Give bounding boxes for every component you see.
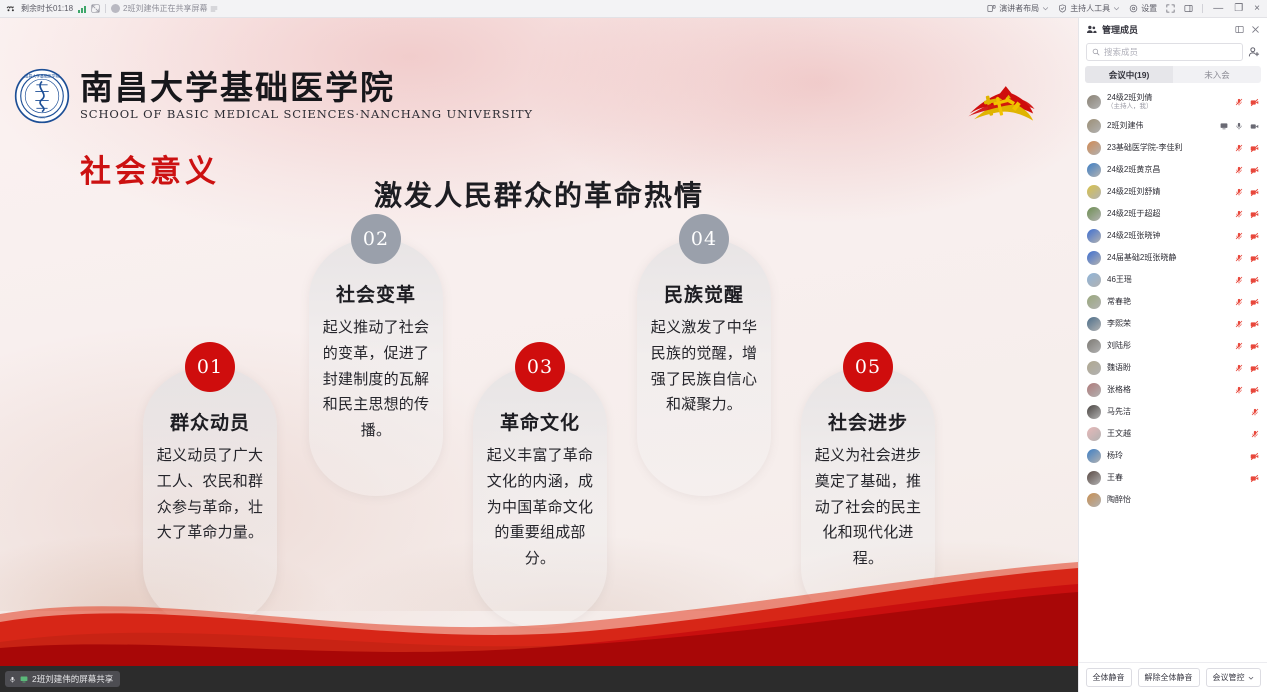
share-status-strip: 2班刘建伟的屏幕共享	[0, 666, 1078, 692]
participant-status-icons	[1250, 474, 1259, 483]
avatar	[1087, 317, 1101, 331]
top-bar: 剩余时长01:18 2班刘建伟正在共享屏幕 演讲者布局	[0, 0, 1267, 18]
maximize-button[interactable]: ❐	[1233, 3, 1244, 14]
avatar	[1087, 251, 1101, 265]
participant-name-wrap: 杨玲	[1107, 451, 1244, 461]
divider	[1202, 4, 1203, 13]
participant-row[interactable]: 24级2班刘舒婧	[1079, 181, 1267, 203]
camera-muted-icon[interactable]	[1250, 254, 1259, 263]
settings-label: 设置	[1141, 3, 1157, 14]
microphone-icon	[9, 676, 16, 683]
close-icon[interactable]	[1251, 25, 1260, 34]
participant-name-wrap: 24届基础2班张晓静	[1107, 253, 1229, 263]
camera-muted-icon[interactable]	[1250, 98, 1259, 107]
microphone-muted-icon[interactable]	[1235, 98, 1243, 106]
participant-name-wrap: 魏语盼	[1107, 363, 1229, 373]
microphone-muted-icon[interactable]	[1251, 408, 1259, 416]
participant-status-icons	[1251, 430, 1259, 438]
card-title: 民族觉醒	[645, 280, 763, 307]
participant-name-wrap: 陶醉怡	[1107, 495, 1253, 505]
microphone-muted-icon[interactable]	[1235, 210, 1243, 218]
participant-name: 马先洁	[1107, 407, 1245, 417]
participant-name: 杨玲	[1107, 451, 1244, 461]
card-title: 社会进步	[809, 408, 927, 435]
university-name-en: SCHOOL OF BASIC MEDICAL SCIENCES·NANCHAN…	[80, 107, 533, 121]
camera-muted-icon[interactable]	[1250, 452, 1259, 461]
participant-status-icons	[1235, 320, 1259, 329]
participant-status-icons	[1220, 122, 1259, 131]
avatar	[1087, 361, 1101, 375]
participant-row[interactable]: 张格格	[1079, 379, 1267, 401]
participant-name: 常春艳	[1107, 297, 1229, 307]
participant-name-wrap: 常春艳	[1107, 297, 1229, 307]
card-description: 起义推动了社会的变革，促进了封建制度的瓦解和民主思想的传播。	[317, 315, 435, 444]
participant-row[interactable]: 2班刘建伟	[1079, 115, 1267, 137]
fullscreen-icon[interactable]	[1166, 4, 1175, 13]
slide-main-title: 激发人民群众的革命热情	[0, 174, 1078, 214]
panel-footer: 全体静音 解除全体静音 会议管控	[1079, 662, 1267, 692]
avatar	[1087, 295, 1101, 309]
settings-button[interactable]: 设置	[1129, 3, 1157, 14]
nanchang-university-emblem: 南昌大学基础医学院 NCU	[14, 68, 70, 124]
card-description: 起义动员了广大工人、农民和群众参与革命，壮大了革命力量。	[151, 443, 269, 546]
participant-status-icons	[1235, 166, 1259, 175]
card-number: 04	[679, 214, 729, 264]
camera-muted-icon[interactable]	[1250, 188, 1259, 197]
avatar	[1087, 141, 1101, 155]
microphone-muted-icon[interactable]	[1235, 276, 1243, 284]
avatar	[1087, 185, 1101, 199]
participant-status-icons	[1235, 364, 1259, 373]
participant-name-wrap: 24级2班于超超	[1107, 209, 1229, 219]
signal-bars-icon[interactable]	[78, 5, 86, 13]
participant-name: 李熙荣	[1107, 319, 1229, 329]
popout-window-icon[interactable]	[91, 4, 100, 13]
search-box[interactable]	[1086, 43, 1243, 61]
participant-name: 46王瑶	[1107, 275, 1229, 285]
camera-on-icon[interactable]	[1250, 122, 1259, 131]
university-name-cn: 南昌大学基础医学院	[80, 71, 533, 106]
people-group-icon	[1086, 24, 1097, 35]
presentation-slide: 南昌大学基础医学院 NCU 南昌大学基础医学院 SCHOOL OF BASIC …	[0, 18, 1078, 666]
participant-name: 魏语盼	[1107, 363, 1229, 373]
participant-name: 24级2班于超超	[1107, 209, 1229, 219]
camera-muted-icon[interactable]	[1250, 298, 1259, 307]
participant-name-wrap: 刘陆彤	[1107, 341, 1229, 351]
svg-text:NCU: NCU	[39, 115, 47, 119]
card-description: 起义激发了中华民族的觉醒，增强了民族自信心和凝聚力。	[645, 315, 763, 418]
svg-text:南昌大学基础医学院: 南昌大学基础医学院	[24, 74, 59, 79]
top-bar-right: 演讲者布局 主持人工具 设置	[987, 3, 1267, 14]
search-row	[1079, 40, 1267, 66]
avatar	[1087, 273, 1101, 287]
avatar	[1087, 119, 1101, 133]
search-icon	[1092, 48, 1100, 56]
participant-status-icons	[1235, 298, 1259, 307]
participant-name: 24级2班刘舒婧	[1107, 187, 1229, 197]
red-ribbon-decoration	[0, 556, 1078, 666]
sharing-notice-label: 2班刘建伟正在共享屏幕	[123, 3, 207, 14]
participant-status-icons	[1235, 98, 1259, 107]
avatar	[1087, 427, 1101, 441]
list-menu-icon[interactable]	[210, 5, 218, 13]
card-number: 02	[351, 214, 401, 264]
camera-muted-icon[interactable]	[1250, 166, 1259, 175]
popout-panel-icon[interactable]	[1235, 25, 1244, 34]
avatar	[1087, 163, 1101, 177]
participant-status-icons	[1235, 232, 1259, 241]
participant-status-icons	[1235, 386, 1259, 395]
microphone-muted-icon[interactable]	[1235, 342, 1243, 350]
participant-row[interactable]: 24级2班刘倩（主持人，我）	[1079, 89, 1267, 115]
participant-name-wrap: 李熙荣	[1107, 319, 1229, 329]
microphone-muted-icon[interactable]	[1235, 320, 1243, 328]
meeting-control-button[interactable]: 会议管控	[1206, 668, 1261, 687]
camera-muted-icon[interactable]	[1250, 276, 1259, 285]
avatar	[1087, 493, 1101, 507]
avatar	[1087, 383, 1101, 397]
speaker-layout-button[interactable]: 演讲者布局	[987, 3, 1049, 14]
participant-row[interactable]: 24级2班黄京昌	[1079, 159, 1267, 181]
participant-status-icons	[1235, 144, 1259, 153]
speaker-layout-label: 演讲者布局	[999, 3, 1039, 14]
participant-name: 24级2班张晓钟	[1107, 231, 1229, 241]
camera-muted-icon[interactable]	[1250, 320, 1259, 329]
card-number: 03	[515, 342, 565, 392]
layout-icon	[987, 4, 996, 13]
sharing-notice: 2班刘建伟正在共享屏幕	[111, 3, 218, 14]
card-description: 起义为社会进步奠定了基础，推动了社会的民主化和现代化进程。	[809, 443, 927, 572]
participant-status-icons	[1235, 254, 1259, 263]
avatar	[1087, 471, 1101, 485]
add-user-icon[interactable]	[1248, 46, 1260, 58]
clock-timer-icon	[6, 4, 16, 14]
tab-in-meeting[interactable]: 会议中(19)	[1085, 66, 1173, 83]
share-status-pill[interactable]: 2班刘建伟的屏幕共享	[5, 671, 120, 687]
participant-row[interactable]: 王春	[1079, 467, 1267, 489]
camera-muted-icon[interactable]	[1250, 386, 1259, 395]
panel-title: 管理成员	[1102, 23, 1138, 36]
microphone-muted-icon[interactable]	[1235, 232, 1243, 240]
sidebar-toggle-icon[interactable]	[1184, 4, 1193, 13]
host-tools-label: 主持人工具	[1070, 3, 1110, 14]
avatar	[1087, 339, 1101, 353]
participant-row[interactable]: 刘陆彤	[1079, 335, 1267, 357]
participant-row[interactable]: 陶醉怡	[1079, 489, 1267, 511]
participant-name: 张格格	[1107, 385, 1229, 395]
microphone-muted-icon[interactable]	[1235, 144, 1243, 152]
card-title: 群众动员	[151, 408, 269, 435]
search-input[interactable]	[1104, 47, 1237, 57]
share-status-label: 2班刘建伟的屏幕共享	[32, 673, 113, 685]
participant-row[interactable]: 魏语盼	[1079, 357, 1267, 379]
participant-name-wrap: 24级2班刘舒婧	[1107, 187, 1229, 197]
remaining-time-label: 剩余时长01:18	[21, 3, 73, 14]
camera-muted-icon[interactable]	[1250, 474, 1259, 483]
card-number: 01	[185, 342, 235, 392]
avatar	[1087, 405, 1101, 419]
host-tools-button[interactable]: 主持人工具	[1058, 3, 1120, 14]
participant-row[interactable]: 24级2班于超超	[1079, 203, 1267, 225]
participant-status-icons	[1235, 188, 1259, 197]
participant-status-icons	[1235, 210, 1259, 219]
participant-status-icons	[1235, 276, 1259, 285]
card-description: 起义丰富了革命文化的内涵，成为中国革命文化的重要组成部分。	[481, 443, 599, 572]
tab-not-joined[interactable]: 未入会	[1173, 66, 1261, 83]
avatar	[1087, 229, 1101, 243]
avatar	[1087, 95, 1101, 109]
participant-name: 2班刘建伟	[1107, 121, 1214, 131]
participant-name-wrap: 张格格	[1107, 385, 1229, 395]
participant-row[interactable]: 常春艳	[1079, 291, 1267, 313]
microphone-muted-icon[interactable]	[1251, 430, 1259, 438]
participant-name: 24级2班刘倩	[1107, 93, 1229, 103]
camera-muted-icon[interactable]	[1250, 144, 1259, 153]
microphone-muted-icon[interactable]	[1235, 254, 1243, 262]
screen-share-icon[interactable]	[1220, 122, 1228, 130]
participant-name-wrap: 2班刘建伟	[1107, 121, 1214, 131]
shield-icon	[1058, 4, 1067, 13]
participant-row[interactable]: 24级2班张晓钟	[1079, 225, 1267, 247]
shared-screen-stage: 南昌大学基础医学院 NCU 南昌大学基础医学院 SCHOOL OF BASIC …	[0, 18, 1078, 692]
card-04: 04 民族觉醒 起义激发了中华民族的觉醒，增强了民族自信心和凝聚力。	[637, 238, 771, 496]
participant-name-wrap: 24级2班刘倩（主持人，我）	[1107, 93, 1229, 110]
participant-row[interactable]: 24届基础2班张晓静	[1079, 247, 1267, 269]
chinese-communist-party-emblem	[964, 76, 1036, 138]
microphone-muted-icon[interactable]	[1235, 364, 1243, 372]
panel-tabs: 会议中(19) 未入会	[1079, 66, 1267, 87]
meeting-control-label: 会议管控	[1213, 672, 1245, 683]
card-title: 革命文化	[481, 408, 599, 435]
microphone-muted-icon[interactable]	[1235, 188, 1243, 196]
camera-muted-icon[interactable]	[1250, 364, 1259, 373]
participant-name: 24级2班黄京昌	[1107, 165, 1229, 175]
participant-name: 王春	[1107, 473, 1244, 483]
card-number: 05	[843, 342, 893, 392]
participant-name: 王文越	[1107, 429, 1245, 439]
participant-name-wrap: 46王瑶	[1107, 275, 1229, 285]
microphone-on-icon[interactable]	[1235, 122, 1243, 130]
camera-muted-icon[interactable]	[1250, 342, 1259, 351]
participant-name-wrap: 王春	[1107, 473, 1244, 483]
microphone-muted-icon[interactable]	[1235, 298, 1243, 306]
microphone-muted-icon[interactable]	[1235, 166, 1243, 174]
unmute-all-button[interactable]: 解除全体静音	[1138, 668, 1200, 687]
participant-status-icons	[1251, 408, 1259, 416]
participant-list[interactable]: 24级2班刘倩（主持人，我）2班刘建伟23基础医学院-李佳利24级2班黄京昌24…	[1079, 87, 1267, 662]
participant-name-wrap: 王文越	[1107, 429, 1245, 439]
card-title: 社会变革	[317, 280, 435, 307]
participant-name: 刘陆彤	[1107, 341, 1229, 351]
card-02: 02 社会变革 起义推动了社会的变革，促进了封建制度的瓦解和民主思想的传播。	[309, 238, 443, 496]
avatar	[1087, 449, 1101, 463]
participant-name: 陶醉怡	[1107, 495, 1253, 505]
avatar	[111, 4, 120, 13]
participant-status-icons	[1250, 452, 1259, 461]
camera-muted-icon[interactable]	[1250, 210, 1259, 219]
microphone-muted-icon[interactable]	[1235, 386, 1243, 394]
participant-name: 24届基础2班张晓静	[1107, 253, 1229, 263]
participant-row[interactable]: 46王瑶	[1079, 269, 1267, 291]
panel-header-actions	[1235, 25, 1260, 34]
avatar	[1087, 207, 1101, 221]
slide-header: 南昌大学基础医学院 NCU 南昌大学基础医学院 SCHOOL OF BASIC …	[14, 68, 533, 124]
mute-all-button[interactable]: 全体静音	[1086, 668, 1132, 687]
participant-role: （主持人，我）	[1107, 103, 1229, 111]
monitor-share-icon	[20, 675, 28, 683]
participant-name-wrap: 24级2班黄京昌	[1107, 165, 1229, 175]
participants-panel: 管理成员 会议中(19) 未入会	[1078, 18, 1267, 692]
gear-icon	[1129, 4, 1138, 13]
panel-header: 管理成员	[1079, 18, 1267, 40]
close-button[interactable]: ×	[1253, 3, 1261, 14]
participant-row[interactable]: 23基础医学院-李佳利	[1079, 137, 1267, 159]
university-names: 南昌大学基础医学院 SCHOOL OF BASIC MEDICAL SCIENC…	[80, 71, 533, 122]
divider	[105, 4, 106, 13]
chevron-down-icon	[1113, 5, 1120, 12]
participant-name-wrap: 马先洁	[1107, 407, 1245, 417]
participant-row[interactable]: 王文越	[1079, 423, 1267, 445]
top-bar-left: 剩余时长01:18 2班刘建伟正在共享屏幕	[0, 3, 218, 14]
participant-name-wrap: 23基础医学院-李佳利	[1107, 143, 1229, 153]
minimize-button[interactable]: —	[1212, 3, 1224, 14]
camera-muted-icon[interactable]	[1250, 232, 1259, 241]
participant-name-wrap: 24级2班张晓钟	[1107, 231, 1229, 241]
chevron-down-icon	[1248, 675, 1254, 681]
participant-status-icons	[1235, 342, 1259, 351]
chevron-down-icon	[1042, 5, 1049, 12]
meeting-window: 剩余时长01:18 2班刘建伟正在共享屏幕 演讲者布局	[0, 0, 1267, 692]
participant-row[interactable]: 马先洁	[1079, 401, 1267, 423]
participant-row[interactable]: 杨玲	[1079, 445, 1267, 467]
participant-name: 23基础医学院-李佳利	[1107, 143, 1229, 153]
participant-row[interactable]: 李熙荣	[1079, 313, 1267, 335]
